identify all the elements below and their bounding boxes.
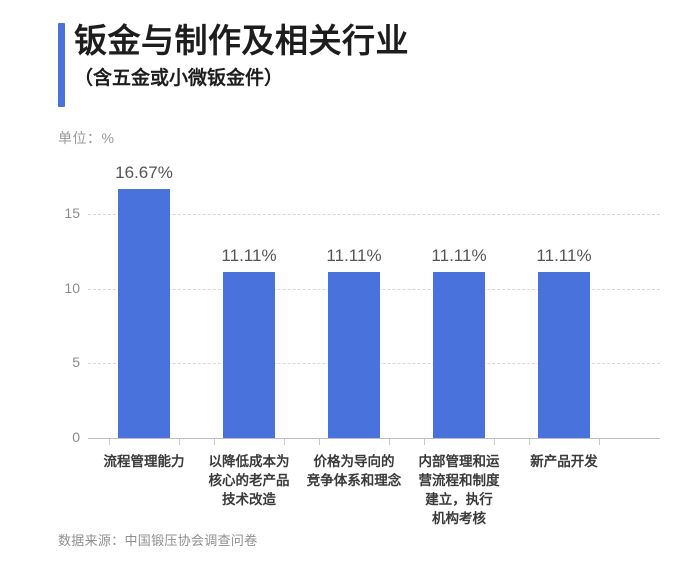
x-axis-tick bbox=[494, 439, 495, 445]
bar[interactable] bbox=[328, 272, 380, 438]
gridline bbox=[88, 214, 660, 215]
bar[interactable] bbox=[223, 272, 275, 438]
y-axis-tick-label: 0 bbox=[40, 429, 80, 445]
x-axis-tick bbox=[599, 439, 600, 445]
y-axis-tick-label: 15 bbox=[40, 205, 80, 221]
x-axis-tick bbox=[389, 439, 390, 445]
bar-value-label: 16.67% bbox=[94, 163, 194, 183]
x-axis-line bbox=[88, 438, 660, 439]
chart-header: 钣金与制作及相关行业 （含五金或小微钣金件） bbox=[58, 20, 658, 110]
bar-value-label: 11.11% bbox=[199, 246, 299, 266]
x-axis-category-label: 流程管理能力 bbox=[92, 452, 196, 471]
x-axis-tick bbox=[179, 439, 180, 445]
source-note: 数据来源：中国锻压协会调查问卷 bbox=[58, 530, 258, 549]
bar-value-label: 11.11% bbox=[409, 246, 509, 266]
gridline bbox=[88, 363, 660, 364]
x-axis-category-label: 以降低成本为核心的老产品技术改造 bbox=[197, 452, 301, 509]
gridline bbox=[88, 289, 660, 290]
x-axis-category-label: 新产品开发 bbox=[512, 452, 616, 471]
unit-label: 单位：% bbox=[58, 128, 114, 148]
x-axis-tick bbox=[214, 439, 215, 445]
accent-bar bbox=[58, 23, 65, 107]
x-axis-category-label: 价格为导向的竞争体系和理念 bbox=[302, 452, 406, 490]
page-title: 钣金与制作及相关行业 bbox=[74, 20, 409, 62]
bar[interactable] bbox=[433, 272, 485, 438]
bar[interactable] bbox=[118, 189, 170, 438]
y-axis-tick-label: 5 bbox=[40, 354, 80, 370]
bar-value-label: 11.11% bbox=[304, 246, 404, 266]
y-axis-tick-label: 10 bbox=[40, 280, 80, 296]
x-axis-tick bbox=[529, 439, 530, 445]
x-axis-tick bbox=[284, 439, 285, 445]
x-axis-tick bbox=[109, 439, 110, 445]
x-axis-tick bbox=[424, 439, 425, 445]
x-axis-category-label: 内部管理和运营流程和制度建立，执行机构考核 bbox=[407, 452, 511, 528]
bar-value-label: 11.11% bbox=[514, 246, 614, 266]
title-block: 钣金与制作及相关行业 （含五金或小微钣金件） bbox=[74, 20, 409, 94]
x-axis-tick bbox=[319, 439, 320, 445]
chart-subtitle: （含五金或小微钣金件） bbox=[74, 64, 409, 94]
bar[interactable] bbox=[538, 272, 590, 438]
